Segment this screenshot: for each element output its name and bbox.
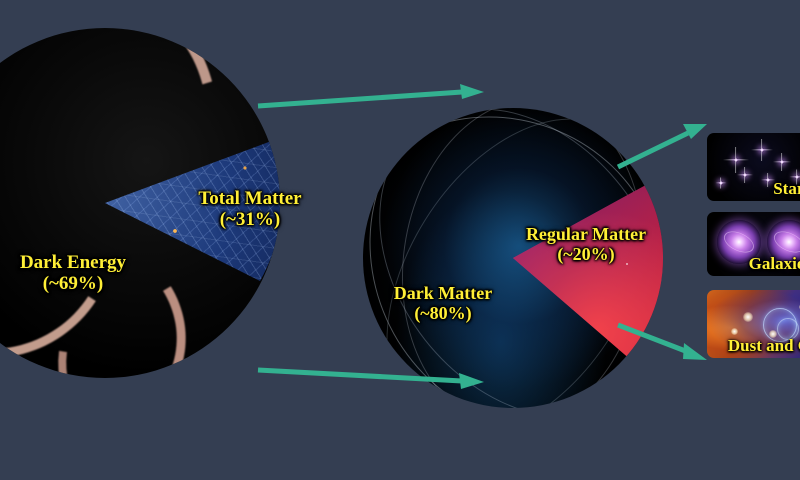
star-icon (751, 139, 773, 161)
universe-composition-infographic: Dark Energy (~69%) Total Matter (~31%) D… (0, 0, 800, 480)
thumbnail-galaxies[interactable]: Galaxies (707, 212, 800, 276)
star-icon (715, 177, 726, 188)
dark-matter-circle (363, 108, 663, 408)
thumbnail-galaxies-caption: Galaxies (749, 254, 800, 274)
dark-energy-circle (0, 28, 280, 378)
nebula-spark-icon (731, 328, 738, 335)
nebula-texture (363, 108, 663, 408)
thumbnail-stars-caption: Stars (773, 179, 800, 199)
arrow-matter-top (258, 84, 484, 106)
star-icon (737, 167, 753, 183)
nebula-spark-icon (743, 312, 753, 322)
regular-matter-slice[interactable] (363, 108, 663, 408)
thumbnail-dust-and-gas[interactable]: Dust and G (707, 290, 800, 358)
cosmic-web-texture (0, 28, 280, 378)
thumbnail-stars[interactable]: Stars (707, 133, 800, 201)
thumbnail-dust-and-gas-caption: Dust and G (728, 336, 800, 356)
total-matter-slice[interactable] (0, 28, 280, 378)
